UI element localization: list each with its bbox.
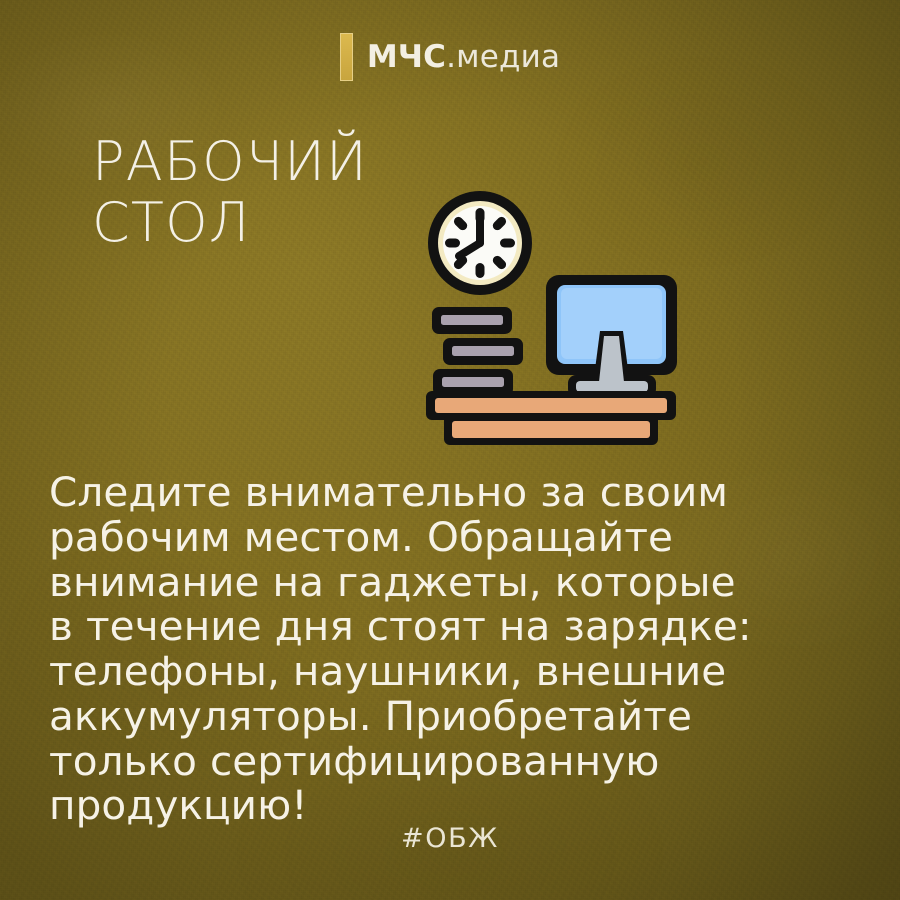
page-title-line-2: СТОЛ [92, 193, 368, 253]
hashtag-label: #ОБЖ [0, 823, 900, 854]
poster-canvas: МЧС.медиа РАБОЧИЙ СТОЛ [0, 0, 900, 900]
desk-shelf-icon [426, 391, 676, 445]
brand-logo: МЧС.медиа [0, 33, 900, 81]
logo-text-light: .медиа [446, 39, 560, 75]
body-line: в течение дня стоят на зарядке: [49, 604, 849, 649]
logo-bar-icon [340, 33, 353, 81]
body-line: внимание на гаджеты, которые [49, 560, 849, 605]
body-line: Следите внимательно за своим [49, 470, 849, 515]
body-line: только сертифицированную [49, 739, 849, 784]
body-line: телефоны, наушники, внешние [49, 649, 849, 694]
computer-monitor-icon [546, 275, 677, 397]
body-text: Следите внимательно за своим рабочим мес… [49, 470, 849, 828]
logo-text-bold: МЧС [367, 39, 446, 75]
wall-clock-icon [428, 191, 532, 295]
book-stack-icon [432, 307, 523, 396]
body-line: рабочим местом. Обращайте [49, 515, 849, 560]
desk-workspace-illustration [418, 186, 698, 448]
page-title-line-1: РАБОЧИЙ [92, 132, 368, 192]
page-title: РАБОЧИЙ СТОЛ [92, 132, 368, 253]
body-line: аккумуляторы. Приобретайте [49, 694, 849, 739]
logo-text: МЧС.медиа [367, 42, 560, 73]
body-line: продукцию! [49, 783, 849, 828]
